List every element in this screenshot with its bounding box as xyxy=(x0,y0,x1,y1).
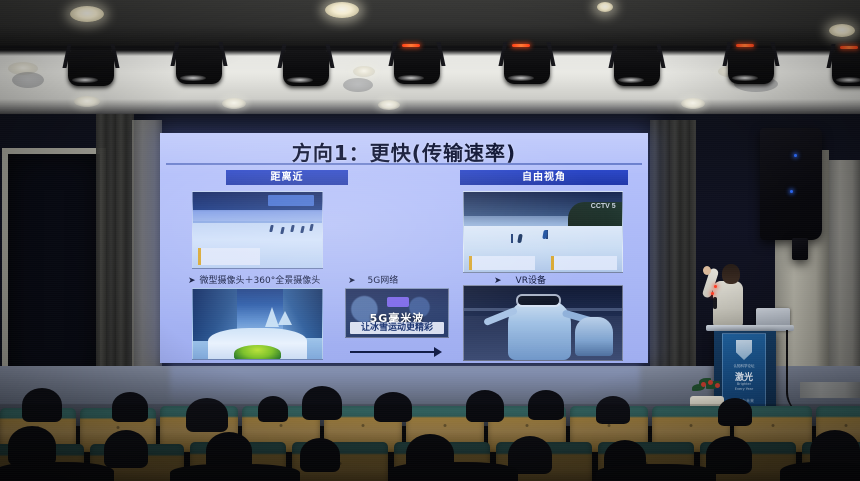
broadcast-logo: CCTV 5 xyxy=(591,203,616,210)
slide-photo-speed-skating xyxy=(192,191,323,269)
left-display-panel xyxy=(2,148,106,392)
crest-emblem-icon xyxy=(736,340,752,360)
slide-column-header-left: 距离近 xyxy=(226,170,348,185)
audience-shoulders xyxy=(780,462,860,481)
slide-photo-ski-broadcast: CCTV 5 xyxy=(463,191,623,273)
banner-small-line: 认知科学论坛 xyxy=(723,364,765,369)
banner-sub-line-2: Every Year xyxy=(723,387,765,391)
plant-flower xyxy=(701,382,706,387)
title-divider xyxy=(166,163,642,165)
audience-member xyxy=(258,396,288,422)
audience-member xyxy=(706,436,752,474)
indicator-light xyxy=(711,292,714,295)
bullet-arrow-icon: ➤ xyxy=(348,276,356,286)
audience-shoulders xyxy=(0,462,114,481)
stage-light-icon xyxy=(170,42,228,88)
slide-photo-vr-user xyxy=(463,285,623,361)
stage-light-icon xyxy=(277,44,335,90)
audience-member xyxy=(718,398,752,426)
plant-flower xyxy=(708,380,713,385)
downlight-icon xyxy=(70,6,104,22)
audience-shoulders xyxy=(388,462,518,481)
audience-member xyxy=(374,392,412,422)
presenter-head xyxy=(722,264,740,284)
slide-bullet-5g-text: 5G网络 xyxy=(368,276,399,286)
stage-curtain-right xyxy=(650,120,696,370)
slide-column-header-right: 自由视角 xyxy=(460,170,628,185)
projection-screen: 方向1：更快(传输速率) 距离近 自由视角 xyxy=(160,133,648,363)
loudspeaker-mount xyxy=(792,238,808,260)
banner-sub-line: Brighter xyxy=(723,382,765,386)
audience-shoulders xyxy=(596,464,716,481)
ceiling-vent-icon xyxy=(343,78,373,92)
wall-pillar-left xyxy=(132,120,162,370)
stage-step xyxy=(800,382,860,398)
slide-bullet-camera: ➤微型摄像头＋360°全景摄像头 xyxy=(188,273,320,286)
downlight-icon xyxy=(378,100,400,110)
stage-light-icon xyxy=(388,42,446,88)
ceiling-slab xyxy=(0,0,860,46)
power-cable xyxy=(786,330,810,416)
wall-pillar-far-right xyxy=(829,160,860,390)
indicator-light xyxy=(714,285,717,288)
microphone-icon xyxy=(713,297,717,309)
audience-member xyxy=(8,426,56,466)
bullet-arrow-icon: ➤ xyxy=(188,276,196,286)
audience-member xyxy=(104,430,148,468)
audience-member xyxy=(300,438,340,472)
flow-arrow-icon xyxy=(350,347,442,357)
loudspeaker xyxy=(760,128,822,240)
audience-member xyxy=(112,392,148,422)
mmwave-subline: 让冰雪运动更精彩 xyxy=(346,320,448,333)
downlight-icon xyxy=(681,98,705,109)
stage-light-icon xyxy=(722,42,780,88)
plant-flower xyxy=(715,383,720,388)
slide-title: 方向1：更快(传输速率) xyxy=(160,137,648,166)
downlight-icon xyxy=(829,24,855,37)
downlight-icon xyxy=(222,98,246,109)
ceiling-vent-icon xyxy=(12,72,44,88)
audience-member xyxy=(528,390,564,420)
audience-member xyxy=(186,398,228,432)
stage-light-icon xyxy=(62,44,120,90)
stage-light-icon xyxy=(826,44,860,90)
stage-light-icon xyxy=(498,42,556,88)
auditorium-scene: 方向1：更快(传输速率) 距离近 自由视角 xyxy=(0,0,860,481)
slide-photo-5g-mmwave: 5G毫米波 让冰雪运动更精彩 xyxy=(345,288,449,338)
downlight-icon xyxy=(353,66,375,77)
slide-surface: 方向1：更快(传输速率) 距离近 自由视角 xyxy=(160,133,648,363)
audience-shoulders xyxy=(170,464,300,481)
slide-bullet-camera-text: 微型摄像头＋360°全景摄像头 xyxy=(200,276,321,286)
audience-member xyxy=(466,390,504,422)
presenter-hand xyxy=(703,266,711,275)
downlight-icon xyxy=(597,2,613,12)
audience-member xyxy=(22,388,62,422)
downlight-icon xyxy=(74,96,100,107)
downlight-icon xyxy=(325,2,359,18)
stage-light-icon xyxy=(608,44,666,90)
audience-member xyxy=(596,396,630,424)
slide-photo-bobsled-pov xyxy=(192,288,323,360)
audience-member xyxy=(302,386,342,420)
stage-curtain-left xyxy=(96,114,134,376)
presenter-body xyxy=(713,281,743,327)
slide-bullet-5g: ➤5G网络 xyxy=(348,273,398,286)
